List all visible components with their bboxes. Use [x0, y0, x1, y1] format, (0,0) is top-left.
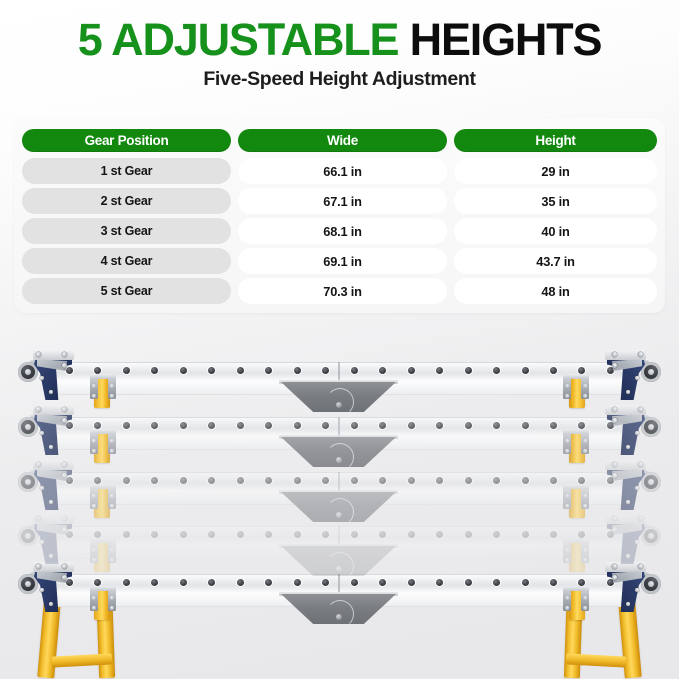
end-bracket-left: [18, 346, 80, 410]
beam-hole: [465, 422, 472, 429]
bolt: [626, 445, 630, 449]
bolt: [110, 394, 114, 398]
bolt: [92, 606, 96, 610]
gusset-pivot-bolt: [336, 512, 342, 518]
cell-height: 43.7 in: [454, 248, 657, 274]
gusset-pivot-bolt: [336, 566, 342, 572]
caster-hub: [25, 581, 31, 587]
bolt: [92, 494, 96, 498]
bolt: [626, 554, 630, 558]
cell-height: 35 in: [454, 188, 657, 214]
bolt: [110, 548, 114, 552]
bolt: [49, 500, 53, 504]
beam-hole: [436, 422, 443, 429]
cell-height: 29 in: [454, 158, 657, 184]
beam-hole: [322, 579, 329, 586]
beam-hole: [151, 367, 158, 374]
beam-hole: [351, 477, 358, 484]
clamp-cap: [563, 429, 589, 434]
beam-level-gear-5-highest: [0, 346, 679, 410]
table-row: 1 st Gear 66.1 in 29 in: [22, 158, 657, 184]
beam-hole: [408, 367, 415, 374]
page-title-black: HEIGHTS: [410, 14, 602, 65]
cell-wide: 68.1 in: [238, 218, 447, 244]
beam-hole: [322, 367, 329, 374]
bolt: [635, 376, 639, 380]
bolt: [612, 363, 617, 368]
bolt: [62, 473, 67, 478]
bolt: [583, 548, 587, 552]
beam-hole: [522, 477, 529, 484]
clamp-cap: [90, 429, 116, 434]
beam-hole: [351, 579, 358, 586]
bolt: [583, 494, 587, 498]
bolt: [565, 494, 569, 498]
page-title-green: 5 ADJUSTABLE: [78, 14, 399, 65]
bolt: [565, 504, 569, 508]
bolt: [110, 449, 114, 453]
beam-hole: [294, 367, 301, 374]
bolt: [40, 486, 44, 490]
bolt: [110, 596, 114, 600]
beam-hole: [493, 531, 500, 538]
bolt: [62, 527, 67, 532]
cell-gear-position: 2 st Gear: [22, 188, 231, 214]
beam-hole: [408, 477, 415, 484]
beam-hole: [436, 477, 443, 484]
beam-hole: [436, 531, 443, 538]
beam-hole: [151, 531, 158, 538]
table-row: 3 st Gear 68.1 in 40 in: [22, 218, 657, 244]
bolt: [92, 394, 96, 398]
beam-hole: [379, 531, 386, 538]
bolt: [92, 439, 96, 443]
beam-hole: [522, 579, 529, 586]
bolt: [565, 558, 569, 562]
beam-hole: [151, 579, 158, 586]
gusset-pivot-bolt: [336, 614, 342, 620]
bolt: [62, 418, 67, 423]
table-row: 5 st Gear 70.3 in 48 in: [22, 278, 657, 304]
product-illustration: [0, 318, 679, 679]
beam-hole: [408, 579, 415, 586]
beam-hole: [180, 531, 187, 538]
page-title: 5 ADJUSTABLE HEIGHTS: [0, 14, 679, 66]
bolt: [612, 352, 617, 357]
gusset-pivot-bolt: [336, 402, 342, 408]
beam-hole-row: [66, 422, 614, 431]
bolt: [62, 352, 67, 357]
bolt: [40, 431, 44, 435]
beam-hole: [208, 477, 215, 484]
bolt: [626, 602, 630, 606]
beam-hole: [294, 477, 301, 484]
bolt: [110, 558, 114, 562]
bolt: [626, 390, 630, 394]
beam-hole: [180, 422, 187, 429]
beam-hole: [522, 367, 529, 374]
bolt: [565, 596, 569, 600]
cell-wide: 66.1 in: [238, 158, 447, 184]
bolt: [635, 486, 639, 490]
bolt: [583, 394, 587, 398]
bolt: [110, 494, 114, 498]
bolt: [49, 390, 53, 394]
cell-gear-position: 1 st Gear: [22, 158, 231, 184]
beam-hole: [408, 422, 415, 429]
beam-hole: [465, 531, 472, 538]
bolt: [565, 449, 569, 453]
caster-hub: [648, 581, 654, 587]
bolt: [565, 548, 569, 552]
end-bracket-right: [599, 346, 661, 410]
caster-hub: [25, 369, 31, 375]
beam-hole: [408, 531, 415, 538]
beam-hole: [436, 579, 443, 586]
bolt: [612, 575, 617, 580]
bolt: [583, 449, 587, 453]
cell-wide: 69.1 in: [238, 248, 447, 274]
beam-hole: [351, 531, 358, 538]
column-header-height: Height: [454, 129, 657, 152]
beam-hole: [294, 422, 301, 429]
caster-hub: [648, 424, 654, 430]
bolt: [62, 363, 67, 368]
beam-hole-row: [66, 367, 614, 376]
bolt: [62, 575, 67, 580]
caster-hub: [25, 424, 31, 430]
bolt: [110, 439, 114, 443]
end-bracket-right: [599, 401, 661, 465]
bolt: [92, 449, 96, 453]
bolt: [110, 606, 114, 610]
beam-hole: [436, 367, 443, 374]
beam-hole: [151, 477, 158, 484]
bolt: [49, 554, 53, 558]
beam-hole: [322, 422, 329, 429]
bolt: [40, 540, 44, 544]
table-row: 2 st Gear 67.1 in 35 in: [22, 188, 657, 214]
beam-hole: [465, 579, 472, 586]
cell-wide: 70.3 in: [238, 278, 447, 304]
cell-wide: 67.1 in: [238, 188, 447, 214]
bolt: [626, 500, 630, 504]
cell-height: 48 in: [454, 278, 657, 304]
beam-hole: [180, 477, 187, 484]
beam-hole: [351, 367, 358, 374]
clamp-cap: [90, 538, 116, 543]
bolt: [612, 473, 617, 478]
clamp-cap: [563, 374, 589, 379]
header: 5 ADJUSTABLE HEIGHTS Five-Speed Height A…: [0, 0, 679, 104]
bolt: [36, 352, 41, 357]
bolt: [635, 588, 639, 592]
bolt: [635, 431, 639, 435]
caster-hub: [25, 479, 31, 485]
bolt: [583, 606, 587, 610]
beam-hole: [493, 367, 500, 374]
cell-gear-position: 5 st Gear: [22, 278, 231, 304]
bolt: [565, 606, 569, 610]
end-bracket-right: [599, 456, 661, 520]
beam-hole: [151, 422, 158, 429]
beam-hole: [294, 531, 301, 538]
beam-hole: [294, 579, 301, 586]
beam-hole: [265, 579, 272, 586]
bolt: [92, 504, 96, 508]
beam-hole: [180, 579, 187, 586]
bolt: [612, 527, 617, 532]
caster-hub: [648, 369, 654, 375]
beam-hole: [493, 579, 500, 586]
beam-hole: [208, 367, 215, 374]
bolt: [638, 352, 643, 357]
beam-hole-row: [66, 531, 614, 540]
caster-hub: [25, 533, 31, 539]
spec-table: Gear Position Wide Height 1 st Gear 66.1…: [14, 118, 665, 313]
beam-hole: [208, 531, 215, 538]
bolt: [565, 439, 569, 443]
clamp-cap: [90, 586, 116, 591]
gusset-pivot-bolt: [336, 457, 342, 463]
beam-hole: [351, 422, 358, 429]
bolt: [92, 558, 96, 562]
caster-hub: [648, 533, 654, 539]
end-bracket-left: [18, 456, 80, 520]
cell-gear-position: 4 st Gear: [22, 248, 231, 274]
clamp-cap: [563, 538, 589, 543]
bolt: [49, 445, 53, 449]
beam-hole: [493, 477, 500, 484]
beam-hole: [237, 477, 244, 484]
beam-hole: [180, 367, 187, 374]
beam-hole: [237, 579, 244, 586]
bolt: [583, 384, 587, 388]
bolt: [565, 394, 569, 398]
end-bracket-left: [18, 401, 80, 465]
clamp-cap: [563, 586, 589, 591]
beam-hole: [237, 422, 244, 429]
beam-hole: [379, 477, 386, 484]
beam-hole: [522, 422, 529, 429]
bolt: [40, 376, 44, 380]
caster-hub: [648, 479, 654, 485]
beam-hole: [322, 477, 329, 484]
table-row: 4 st Gear 69.1 in 43.7 in: [22, 248, 657, 274]
beam-hole: [265, 367, 272, 374]
bolt: [583, 558, 587, 562]
bolt: [92, 548, 96, 552]
beam-hole: [265, 531, 272, 538]
bolt: [92, 596, 96, 600]
cell-height: 40 in: [454, 218, 657, 244]
beam-hole: [522, 531, 529, 538]
bolt: [635, 540, 639, 544]
clamp-cap: [563, 484, 589, 489]
page-subtitle: Five-Speed Height Adjustment: [0, 66, 679, 92]
bolt: [565, 384, 569, 388]
clamp-cap: [90, 484, 116, 489]
infographic-page: 5 ADJUSTABLE HEIGHTS Five-Speed Height A…: [0, 0, 679, 679]
beam-hole: [379, 422, 386, 429]
bolt: [92, 384, 96, 388]
column-header-gear-position: Gear Position: [22, 129, 231, 152]
beam-hole: [208, 422, 215, 429]
bolt: [110, 384, 114, 388]
beam-hole: [265, 422, 272, 429]
bolt: [583, 596, 587, 600]
table-header-row: Gear Position Wide Height: [22, 129, 657, 152]
beam-hole: [237, 367, 244, 374]
beam-hole: [379, 579, 386, 586]
beam-hole: [379, 367, 386, 374]
beam-hole: [322, 531, 329, 538]
beam-hole-row: [66, 579, 614, 588]
bolt: [612, 418, 617, 423]
beam-hole-row: [66, 477, 614, 486]
beam-hole: [465, 477, 472, 484]
bolt: [583, 439, 587, 443]
bolt: [49, 602, 53, 606]
cell-gear-position: 3 st Gear: [22, 218, 231, 244]
beam-hole: [493, 422, 500, 429]
column-header-wide: Wide: [238, 129, 447, 152]
bolt: [583, 504, 587, 508]
beam-hole: [237, 531, 244, 538]
beam-hole: [208, 579, 215, 586]
bolt: [110, 504, 114, 508]
beam-hole: [265, 477, 272, 484]
bolt: [40, 588, 44, 592]
beam-hole: [465, 367, 472, 374]
clamp-cap: [90, 374, 116, 379]
